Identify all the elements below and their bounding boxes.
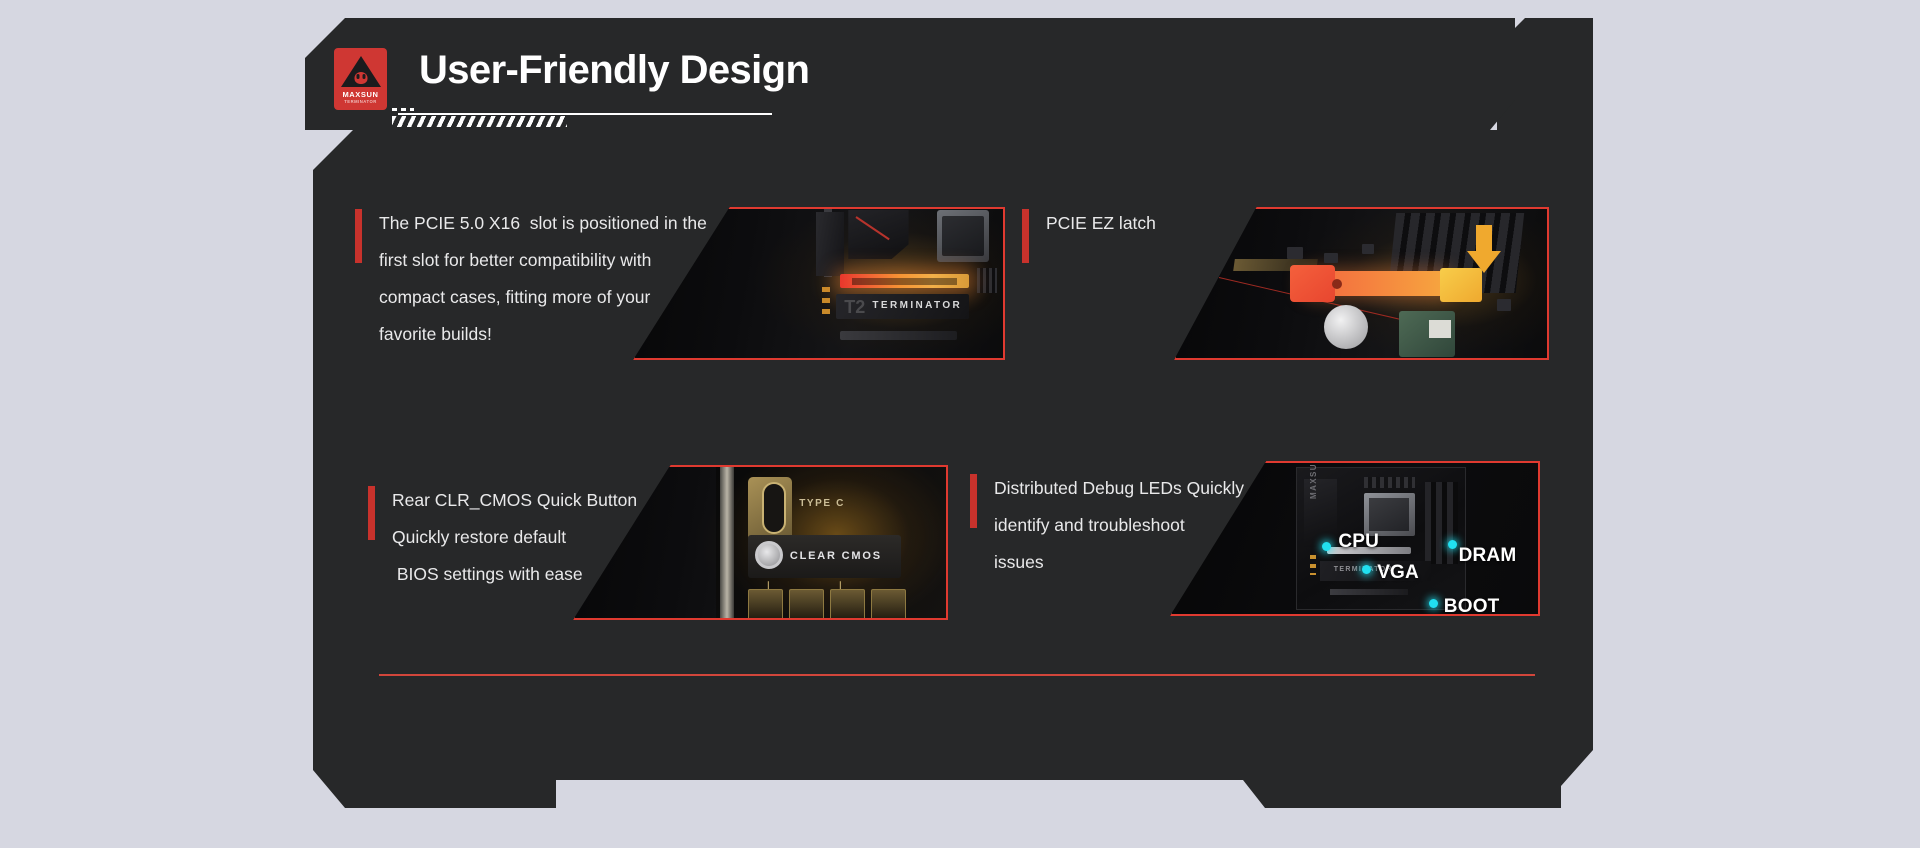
motherboard-graphic: MAXSUN TERMINATOR xyxy=(1296,467,1466,610)
cpu-socket-inner xyxy=(942,216,984,256)
accent-bar xyxy=(970,474,977,528)
cpu-socket-inner xyxy=(1369,498,1409,532)
led-label-cpu: CPU xyxy=(1338,531,1379,553)
feature-line: compact cases, fitting more of your xyxy=(379,279,707,316)
led-label-dram: DRAM xyxy=(1459,545,1517,567)
vrm-heatsink xyxy=(1364,477,1414,488)
logo-mask-icon xyxy=(354,72,367,84)
vrm-heatsink xyxy=(816,212,844,276)
led-dot-boot xyxy=(1429,599,1438,608)
bottom-divider xyxy=(379,674,1535,676)
feature-line: The PCIE 5.0 X16 slot is positioned in t… xyxy=(379,205,707,242)
header-rule xyxy=(398,113,772,115)
chipset-die xyxy=(1429,320,1451,338)
header-hatch-decoration xyxy=(392,116,567,127)
led-label-boot: BOOT xyxy=(1444,596,1500,616)
feature-line: PCIE EZ latch xyxy=(1046,205,1156,242)
motherboard-graphic: T2 TERMINATOR xyxy=(804,207,1005,360)
pcie-slot-inner xyxy=(852,278,956,285)
side-brand-label: MAXSUN xyxy=(1309,461,1318,499)
dimm-slots xyxy=(1425,482,1459,564)
board-brand-ghost: T2 xyxy=(844,297,865,318)
feature-line: identify and troubleshoot xyxy=(994,507,1244,544)
led-dot-cpu xyxy=(1322,542,1331,551)
logo-brand-text: MAXSUN xyxy=(334,90,387,99)
cpu-socket xyxy=(937,210,989,262)
usb-port xyxy=(871,589,906,620)
io-shield-rail xyxy=(720,465,734,620)
header-tick-marks xyxy=(392,108,414,111)
down-arrow-icon xyxy=(1467,225,1501,273)
led-label-vga: VGA xyxy=(1377,562,1419,584)
accent-bar xyxy=(1022,209,1029,263)
usb-port-row xyxy=(748,589,906,620)
feature-lines: Rear CLR_CMOS Quick Button Quickly resto… xyxy=(392,482,637,593)
type-c-port-inner xyxy=(762,482,786,534)
type-c-label: TYPE C xyxy=(799,498,845,509)
smd-component xyxy=(1497,299,1511,311)
accent-bar xyxy=(355,209,362,263)
ez-latch-pivot xyxy=(1332,279,1342,289)
usb-port xyxy=(830,589,865,620)
feature-line: Quickly restore default xyxy=(392,519,637,556)
feature-line: first slot for better compatibility with xyxy=(379,242,707,279)
smd-component xyxy=(1287,247,1303,259)
clear-cmos-label: CLEAR CMOS xyxy=(790,550,882,562)
feature-lines: PCIE EZ latch xyxy=(1046,205,1156,242)
accent-bar xyxy=(368,486,375,540)
feature-line: Rear CLR_CMOS Quick Button xyxy=(392,482,637,519)
arrow-tip xyxy=(1467,251,1501,273)
smd-component xyxy=(1362,244,1374,254)
logo-sub-text: TERMINATOR xyxy=(334,99,387,104)
page-root: MAXSUN TERMINATOR User-Friendly Design T… xyxy=(0,0,1920,848)
led-dot-dram xyxy=(1448,540,1457,549)
smd-component xyxy=(1324,253,1338,263)
feature-line: Distributed Debug LEDs Quickly xyxy=(994,470,1244,507)
lower-pcie-slot xyxy=(840,331,957,340)
rear-io-graphic: TYPE C CLEAR CMOS ⌡ ⌡ xyxy=(716,465,949,620)
clear-cmos-button[interactable] xyxy=(755,541,783,569)
maxsun-logo: MAXSUN TERMINATOR xyxy=(334,48,387,110)
arrow-stem xyxy=(1476,225,1492,253)
page-title: User-Friendly Design xyxy=(419,48,809,93)
vrm-fins xyxy=(977,268,997,292)
capacitors xyxy=(1310,555,1316,575)
ez-latch-head xyxy=(1290,265,1335,302)
capacitors xyxy=(822,287,830,321)
usb-port xyxy=(748,589,783,620)
usb-port xyxy=(789,589,824,620)
cmos-battery xyxy=(1324,305,1368,349)
lower-pcie-slot xyxy=(1330,589,1407,595)
board-brand-label: TERMINATOR xyxy=(872,300,962,311)
